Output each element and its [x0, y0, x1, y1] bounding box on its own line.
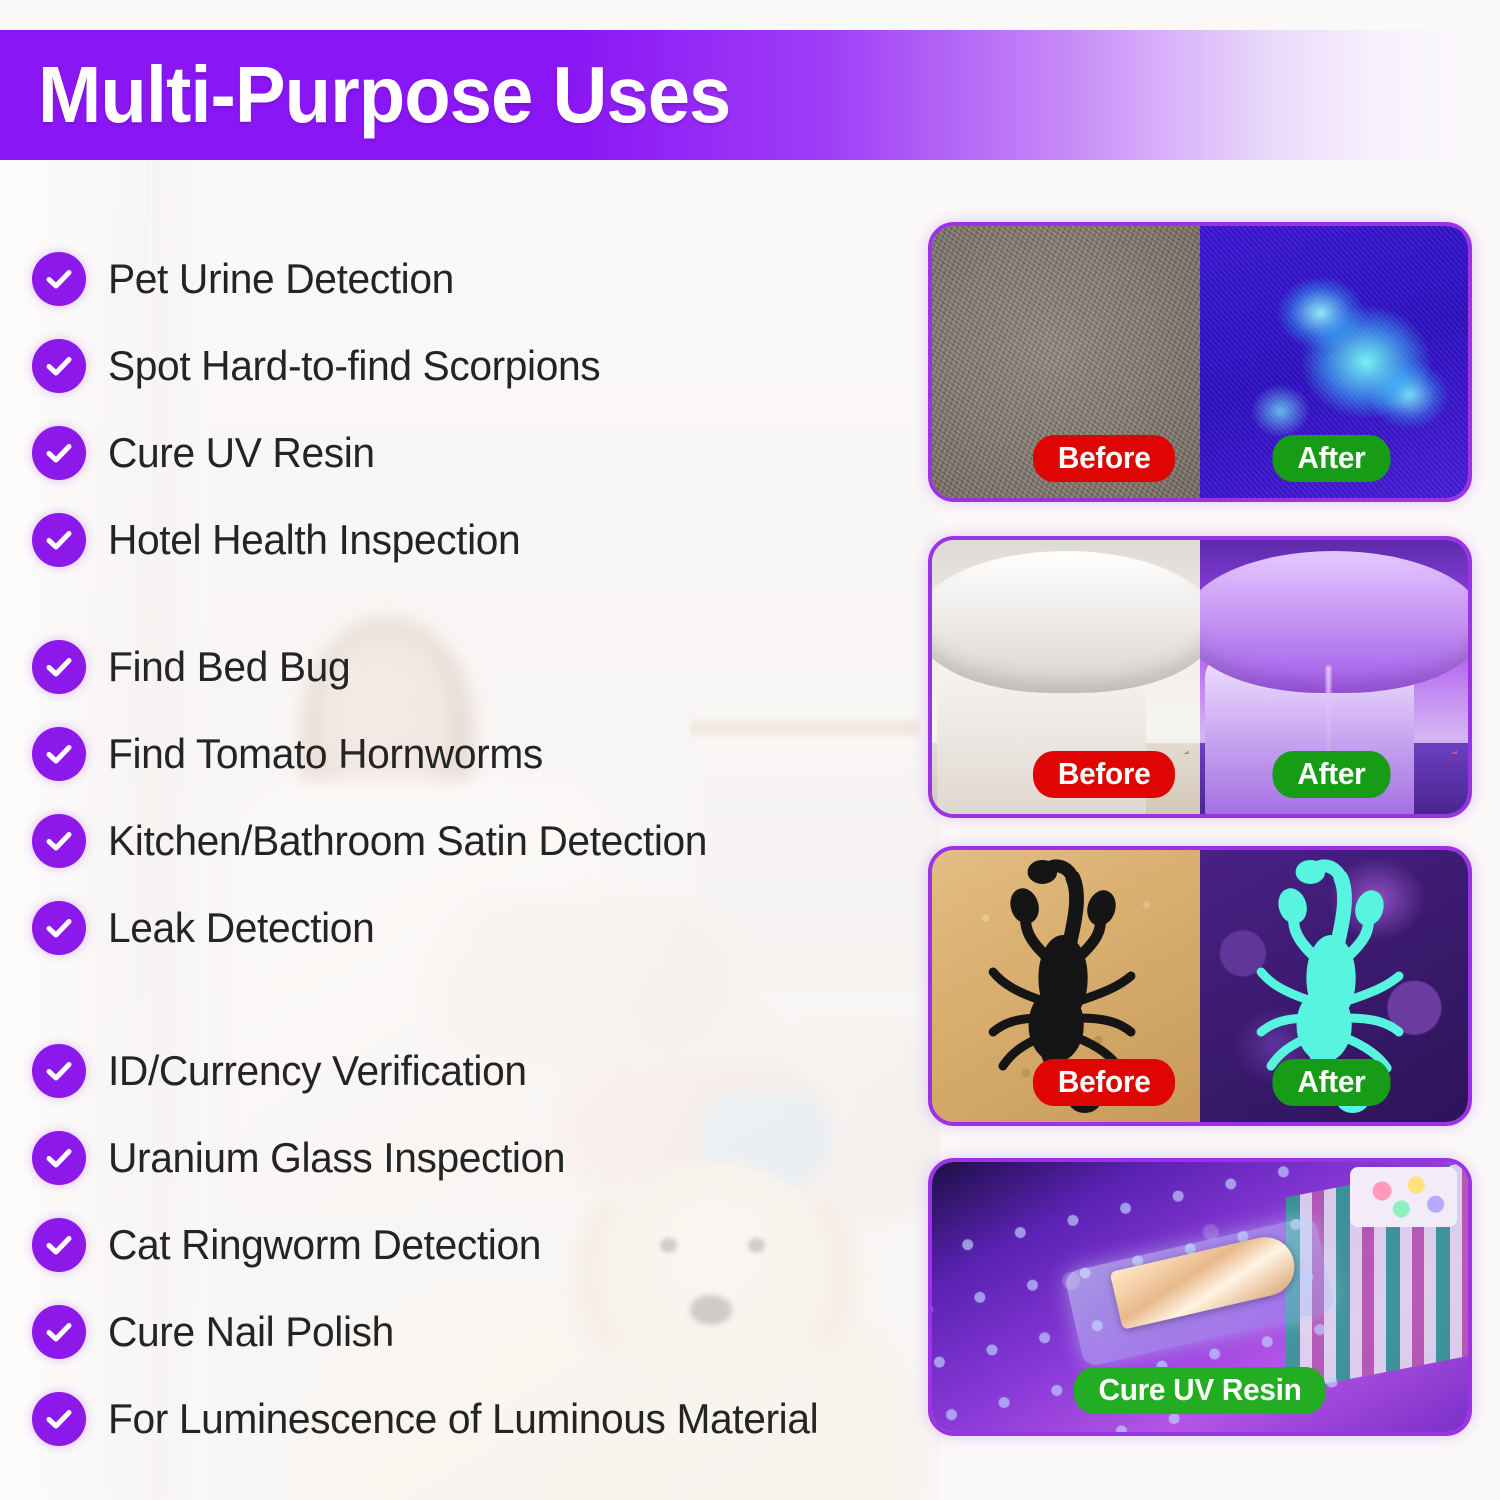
before-badge: Before [1033, 435, 1175, 482]
feature-list: Pet Urine Detection Spot Hard-to-find Sc… [0, 160, 940, 1500]
list-item[interactable]: ID/Currency Verification [32, 1040, 932, 1102]
check-circle-icon [32, 339, 86, 393]
check-circle-icon [32, 252, 86, 306]
before-badge: Before [1033, 751, 1175, 798]
page-title: Multi-Purpose Uses [38, 55, 730, 135]
list-item[interactable]: Find Tomato Hornworms [32, 723, 932, 785]
list-item-label: Find Tomato Hornworms [108, 730, 543, 778]
list-item[interactable]: Leak Detection [32, 897, 932, 959]
check-circle-icon [32, 727, 86, 781]
photo-before-toilet: Before [932, 540, 1200, 814]
list-item-label: Spot Hard-to-find Scorpions [108, 342, 600, 390]
before-badge: Before [1033, 1059, 1175, 1106]
photo-after-scorpion-uv: After [1200, 850, 1468, 1122]
check-circle-icon [32, 426, 86, 480]
list-item-label: Cure Nail Polish [108, 1308, 394, 1356]
list-item-label: Cure UV Resin [108, 429, 375, 477]
check-circle-icon [32, 814, 86, 868]
list-item[interactable]: Find Bed Bug [32, 636, 932, 698]
list-item[interactable]: Cat Ringworm Detection [32, 1214, 932, 1276]
list-item[interactable]: Kitchen/Bathroom Satin Detection [32, 810, 932, 872]
list-item-label: Find Bed Bug [108, 643, 350, 691]
photo-uv-resin-curing: Cure UV Resin [932, 1162, 1468, 1432]
list-item[interactable]: For Luminescence of Luminous Material [32, 1388, 932, 1450]
check-circle-icon [32, 1305, 86, 1359]
list-item-label: For Luminescence of Luminous Material [108, 1395, 818, 1443]
infographic-page: Multi-Purpose Uses Pet Urine Detection S… [0, 0, 1500, 1500]
list-item-label: Hotel Health Inspection [108, 516, 520, 564]
photo-panel-uv-resin[interactable]: Cure UV Resin [928, 1158, 1472, 1436]
check-circle-icon [32, 1131, 86, 1185]
list-item-label: Uranium Glass Inspection [108, 1134, 565, 1182]
photo-after-carpet-uv: After [1200, 226, 1468, 498]
feature-group-2: Find Bed Bug Find Tomato Hornworms Kitch… [32, 636, 932, 959]
after-badge: After [1272, 751, 1390, 798]
list-item[interactable]: Cure UV Resin [32, 422, 932, 484]
check-circle-icon [32, 513, 86, 567]
cure-uv-resin-badge: Cure UV Resin [1074, 1367, 1327, 1414]
list-item[interactable]: Uranium Glass Inspection [32, 1127, 932, 1189]
check-circle-icon [32, 901, 86, 955]
header-banner: Multi-Purpose Uses [0, 30, 1500, 160]
photo-after-toilet-uv: After [1200, 540, 1468, 814]
list-item-label: Kitchen/Bathroom Satin Detection [108, 817, 707, 865]
photo-before-scorpion: Before [932, 850, 1200, 1122]
comparison-panel-toilet[interactable]: Before After [928, 536, 1472, 818]
check-circle-icon [32, 1218, 86, 1272]
list-item[interactable]: Cure Nail Polish [32, 1301, 932, 1363]
check-circle-icon [32, 1392, 86, 1446]
photo-before-carpet: Before [932, 226, 1200, 498]
feature-group-1: Pet Urine Detection Spot Hard-to-find Sc… [32, 248, 932, 571]
list-item[interactable]: Hotel Health Inspection [32, 509, 932, 571]
comparison-panel-scorpion[interactable]: Before [928, 846, 1472, 1126]
list-item-label: Cat Ringworm Detection [108, 1221, 541, 1269]
list-item-label: Pet Urine Detection [108, 255, 454, 303]
after-badge: After [1272, 1059, 1390, 1106]
list-item-label: Leak Detection [108, 904, 374, 952]
list-item-label: ID/Currency Verification [108, 1047, 527, 1095]
list-item[interactable]: Spot Hard-to-find Scorpions [32, 335, 932, 397]
check-circle-icon [32, 1044, 86, 1098]
list-item[interactable]: Pet Urine Detection [32, 248, 932, 310]
check-circle-icon [32, 640, 86, 694]
after-badge: After [1272, 435, 1390, 482]
feature-group-3: ID/Currency Verification Uranium Glass I… [32, 1040, 932, 1450]
comparison-panel-carpet[interactable]: Before After [928, 222, 1472, 502]
